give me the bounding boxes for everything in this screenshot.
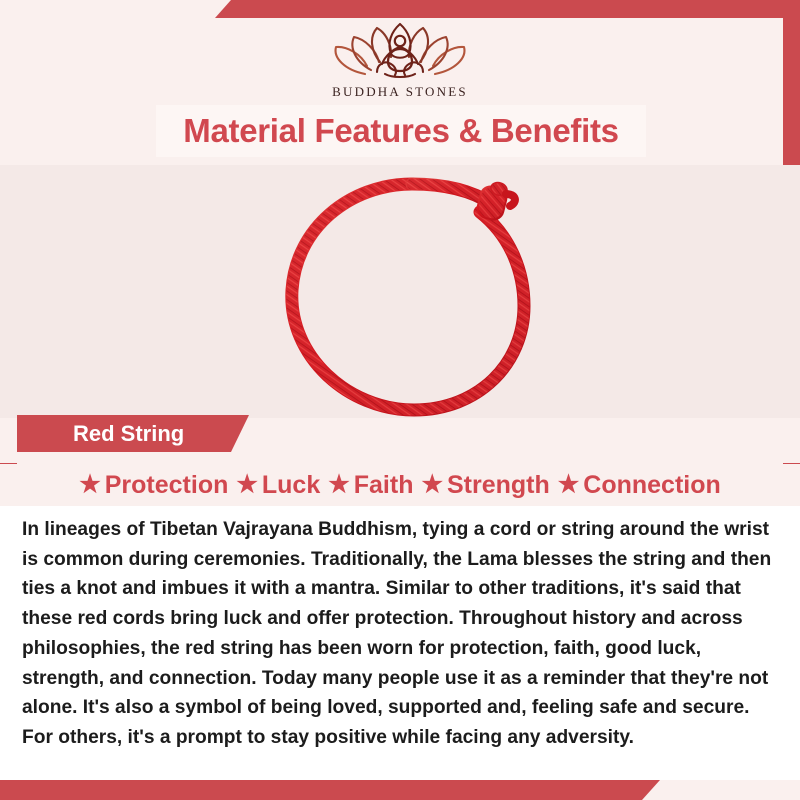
page-title: Material Features & Benefits bbox=[183, 112, 618, 150]
star-icon: ★ bbox=[558, 473, 580, 497]
benefit-item-faith: ★ Faith bbox=[328, 471, 413, 500]
benefits-row: ★ Protection ★ Luck ★ Faith ★ Strength ★… bbox=[0, 464, 800, 506]
description-block: In lineages of Tibetan Vajrayana Buddhis… bbox=[0, 506, 800, 780]
star-icon: ★ bbox=[328, 473, 350, 497]
star-icon: ★ bbox=[421, 473, 443, 497]
benefit-label: Connection bbox=[583, 471, 721, 500]
benefit-item-connection: ★ Connection bbox=[558, 471, 721, 500]
benefit-label: Strength bbox=[447, 471, 550, 500]
lotus-meditation-icon bbox=[325, 14, 475, 82]
material-label-tag: Red String bbox=[17, 415, 249, 452]
benefit-item-protection: ★ Protection bbox=[79, 471, 228, 500]
description-paragraph: In lineages of Tibetan Vajrayana Buddhis… bbox=[22, 515, 778, 753]
title-banner: Material Features & Benefits bbox=[156, 105, 646, 157]
star-icon: ★ bbox=[236, 473, 258, 497]
product-image bbox=[252, 172, 572, 437]
brand-name: BUDDHA STONES bbox=[332, 84, 468, 100]
marketing-poster: BUDDHA STONES Material Features & Benefi… bbox=[0, 0, 800, 800]
star-icon: ★ bbox=[79, 473, 101, 497]
material-label-text: Red String bbox=[73, 421, 184, 447]
benefit-item-strength: ★ Strength bbox=[421, 471, 549, 500]
benefit-item-luck: ★ Luck bbox=[236, 471, 320, 500]
benefit-label: Luck bbox=[262, 471, 320, 500]
brand-logo: BUDDHA STONES bbox=[0, 14, 800, 100]
decor-bar-bottom bbox=[0, 780, 660, 800]
benefit-label: Faith bbox=[354, 471, 414, 500]
benefit-label: Protection bbox=[105, 471, 229, 500]
red-string-bracelet-image bbox=[252, 172, 572, 437]
